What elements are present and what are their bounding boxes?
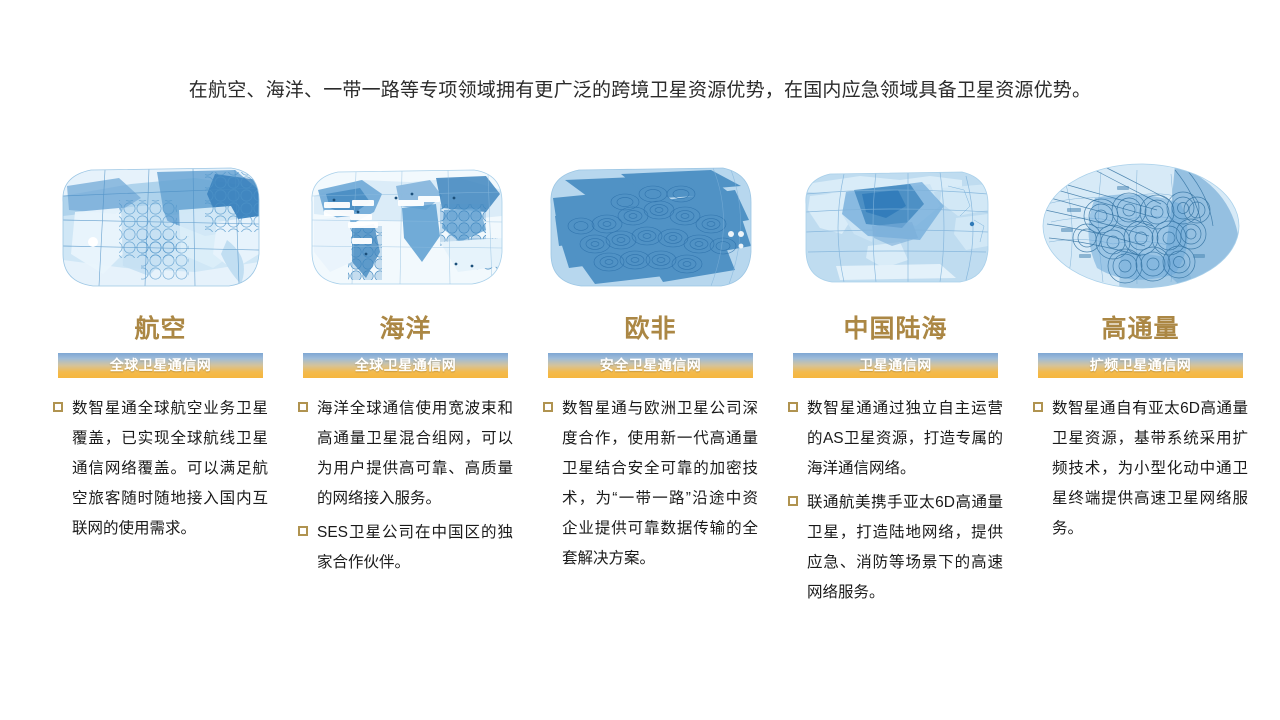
square-bullet-icon: [1033, 402, 1043, 412]
network-badge: 卫星通信网: [793, 353, 998, 378]
globe-world-coverage-icon: [290, 150, 522, 302]
list-item: 数智星通全球航空业务卫星覆盖，已实现全球航线卫星通信网络覆盖。可以满足航空旅客随…: [53, 394, 268, 544]
network-badge: 安全卫星通信网: [548, 353, 753, 378]
bullet-list: 数智星通通过独立自主运营的AS卫星资源，打造专属的海洋通信网络。 联通航美携手亚…: [788, 394, 1003, 612]
network-badge: 全球卫星通信网: [58, 353, 263, 378]
bullet-text: 数智星通通过独立自主运营的AS卫星资源，打造专属的海洋通信网络。: [807, 394, 1003, 484]
bullet-list: 数智星通全球航空业务卫星覆盖，已实现全球航线卫星通信网络覆盖。可以满足航空旅客随…: [53, 394, 268, 548]
column-title: 欧非: [624, 314, 676, 344]
globe-asia-pacific-graticule-icon: [780, 150, 1012, 302]
feature-column-high-throughput: 高通量 扩频卫星通信网 数智星通自有亚太6D高通量卫星资源，基带系统采用扩频技术…: [1018, 150, 1263, 628]
square-bullet-icon: [788, 402, 798, 412]
list-item: 数智星通通过独立自主运营的AS卫星资源，打造专属的海洋通信网络。: [788, 394, 1003, 484]
feature-column-ocean: 海洋 全球卫星通信网 海洋全球通信使用宽波束和高通量卫星混合组网，可以为用户提供…: [283, 150, 528, 628]
page-headline: 在航空、海洋、一带一路等专项领域拥有更广泛的跨境卫星资源优势，在国内应急领域具备…: [0, 76, 1280, 106]
bullet-list: 数智星通与欧洲卫星公司深度合作，使用新一代高通量卫星结合安全可靠的加密技术，为“…: [543, 394, 758, 578]
bullet-text: 数智星通自有亚太6D高通量卫星资源，基带系统采用扩频技术，为小型化动中通卫星终端…: [1052, 394, 1248, 544]
list-item: 海洋全球通信使用宽波束和高通量卫星混合组网，可以为用户提供高可靠、高质量的网络接…: [298, 394, 513, 514]
feature-column-europe-africa: 欧非 安全卫星通信网 数智星通与欧洲卫星公司深度合作，使用新一代高通量卫星结合安…: [528, 150, 773, 628]
bullet-text: 海洋全球通信使用宽波束和高通量卫星混合组网，可以为用户提供高可靠、高质量的网络接…: [317, 394, 513, 514]
globe-beam-cells-icon: [45, 150, 277, 302]
column-title: 中国陆海: [843, 314, 947, 344]
bullet-text: 数智星通全球航空业务卫星覆盖，已实现全球航线卫星通信网络覆盖。可以满足航空旅客随…: [72, 394, 268, 544]
column-title: 高通量: [1101, 314, 1179, 344]
column-title: 航空: [134, 314, 186, 344]
globe-dense-beam-contours-icon: [535, 150, 767, 302]
square-bullet-icon: [298, 526, 308, 536]
square-bullet-icon: [543, 402, 553, 412]
network-badge: 扩频卫星通信网: [1038, 353, 1243, 378]
network-badge: 全球卫星通信网: [303, 353, 508, 378]
list-item: 联通航美携手亚太6D高通量卫星，打造陆地网络，提供应急、消防等场景下的高速网络服…: [788, 488, 1003, 608]
list-item: SES卫星公司在中国区的独家合作伙伴。: [298, 518, 513, 578]
list-item: 数智星通与欧洲卫星公司深度合作，使用新一代高通量卫星结合安全可靠的加密技术，为“…: [543, 394, 758, 574]
globe-china-spot-beams-icon: [1025, 150, 1257, 302]
feature-column-china-land-sea: 中国陆海 卫星通信网 数智星通通过独立自主运营的AS卫星资源，打造专属的海洋通信…: [773, 150, 1018, 628]
feature-columns: 航空 全球卫星通信网 数智星通全球航空业务卫星覆盖，已实现全球航线卫星通信网络覆…: [0, 150, 1280, 628]
square-bullet-icon: [53, 402, 63, 412]
bullet-text: 数智星通与欧洲卫星公司深度合作，使用新一代高通量卫星结合安全可靠的加密技术，为“…: [562, 394, 758, 574]
feature-column-aviation: 航空 全球卫星通信网 数智星通全球航空业务卫星覆盖，已实现全球航线卫星通信网络覆…: [38, 150, 283, 628]
square-bullet-icon: [298, 402, 308, 412]
bullet-text: 联通航美携手亚太6D高通量卫星，打造陆地网络，提供应急、消防等场景下的高速网络服…: [807, 488, 1003, 608]
square-bullet-icon: [788, 496, 798, 506]
bullet-list: 数智星通自有亚太6D高通量卫星资源，基带系统采用扩频技术，为小型化动中通卫星终端…: [1033, 394, 1248, 548]
bullet-text: SES卫星公司在中国区的独家合作伙伴。: [317, 518, 513, 578]
bullet-list: 海洋全球通信使用宽波束和高通量卫星混合组网，可以为用户提供高可靠、高质量的网络接…: [298, 394, 513, 582]
column-title: 海洋: [379, 314, 431, 344]
list-item: 数智星通自有亚太6D高通量卫星资源，基带系统采用扩频技术，为小型化动中通卫星终端…: [1033, 394, 1248, 544]
